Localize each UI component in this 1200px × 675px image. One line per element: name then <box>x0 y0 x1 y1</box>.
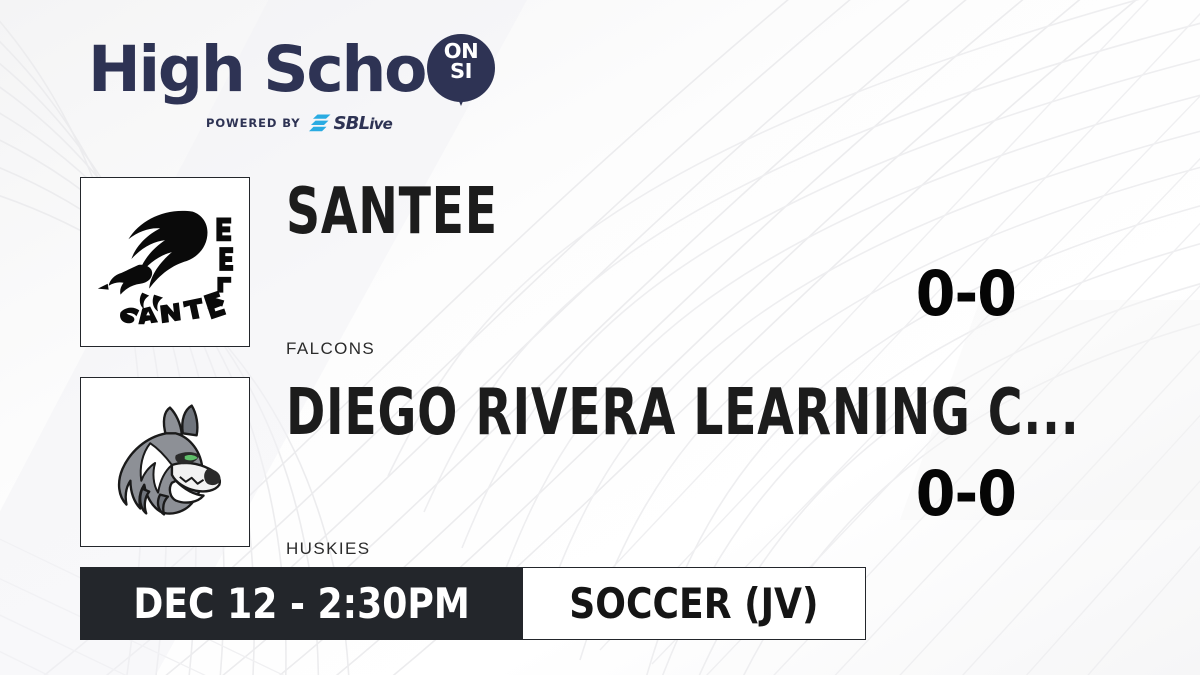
on-si-pin-line2: SI <box>425 62 496 82</box>
team-logo-diego-rivera[interactable] <box>80 377 250 547</box>
sblive-word-suffix: ive <box>369 115 392 133</box>
powered-by-row: POWERED BY SBLive <box>206 112 392 134</box>
team-name-santee: SANTEE <box>286 180 498 244</box>
husky-head-icon <box>81 378 249 546</box>
game-datetime-label: DEC 12 - 2:30PM <box>133 583 469 625</box>
sblive-wordmark: SBLive <box>333 113 391 134</box>
game-datetime-chip: DEC 12 - 2:30PM <box>80 567 523 640</box>
game-sport-label: SOCCER (JV) <box>569 583 818 625</box>
brand-lockup: High School ON SI POWERED BY SBLive <box>88 36 508 136</box>
sblive-logo: SBLive <box>309 113 391 134</box>
santee-falcon-icon <box>81 178 249 346</box>
on-si-pin-icon: ON SI <box>427 34 499 120</box>
team-mascot-falcons: FALCONS <box>286 339 375 359</box>
game-sport-chip: SOCCER (JV) <box>523 567 866 640</box>
sblive-bolt-icon <box>309 114 331 133</box>
game-info-bar: DEC 12 - 2:30PM SOCCER (JV) <box>80 567 866 640</box>
team-logo-santee[interactable] <box>80 177 250 347</box>
team-name-diego-rivera: DIEGO RIVERA LEARNING C... <box>286 381 1079 445</box>
sblive-word-main: SBL <box>333 113 369 134</box>
powered-by-label: POWERED BY <box>206 116 300 130</box>
team-record-santee: 0-0 <box>740 263 1016 325</box>
team-mascot-huskies: HUSKIES <box>286 539 370 559</box>
team-record-diego-rivera: 0-0 <box>740 463 1016 525</box>
